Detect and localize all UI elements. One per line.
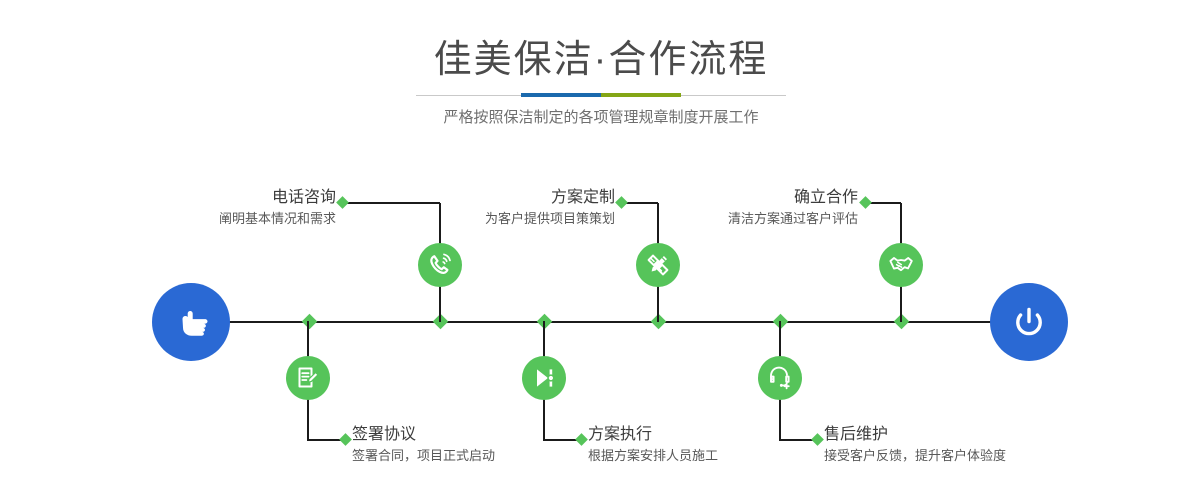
step-5-subtitle: 清洁方案通过客户评估 xyxy=(620,209,858,229)
step-3-title: 方案定制 xyxy=(380,187,615,209)
headset-add-icon xyxy=(766,364,794,392)
power-icon xyxy=(1007,300,1051,344)
page-title: 佳美保洁·合作流程 xyxy=(0,36,1202,84)
process-flow-infographic: 佳美保洁·合作流程 严格按照保洁制定的各项管理规章制度开展工作 xyxy=(0,0,1202,502)
step-5-title: 确立合作 xyxy=(620,187,858,209)
step-5-label: 确立合作 清洁方案通过客户评估 xyxy=(620,187,858,229)
step-1-label: 电话咨询 阐明基本情况和需求 xyxy=(100,187,336,229)
step-6-subtitle: 接受客户反馈，提升客户体验度 xyxy=(824,446,1154,466)
step-5-icon-node[interactable] xyxy=(879,243,923,287)
page-subtitle: 严格按照保洁制定的各项管理规章制度开展工作 xyxy=(0,106,1202,130)
handshake-icon xyxy=(887,251,915,279)
pencil-ruler-icon xyxy=(644,251,672,279)
step-3-icon-node[interactable] xyxy=(636,243,680,287)
step-2-icon-node[interactable] xyxy=(286,356,330,400)
step-6-title: 售后维护 xyxy=(824,424,1154,446)
pointing-hand-icon xyxy=(169,300,213,344)
step-3-subtitle: 为客户提供项目策策划 xyxy=(380,209,615,229)
title-divider-blue-segment xyxy=(521,93,601,97)
document-pen-icon xyxy=(294,364,322,392)
title-divider-green-segment xyxy=(601,93,681,97)
timeline-start-node[interactable] xyxy=(152,283,230,361)
step-1-icon-node[interactable] xyxy=(418,243,462,287)
step-3-label: 方案定制 为客户提供项目策策划 xyxy=(380,187,615,229)
phone-call-icon xyxy=(426,251,454,279)
timeline-end-node[interactable] xyxy=(990,283,1068,361)
step-6-label: 售后维护 接受客户反馈，提升客户体验度 xyxy=(824,424,1154,466)
play-skip-icon xyxy=(530,364,558,392)
step-6-icon-node[interactable] xyxy=(758,356,802,400)
step-1-title: 电话咨询 xyxy=(100,187,336,209)
step-4-icon-node[interactable] xyxy=(522,356,566,400)
axis-marker xyxy=(302,314,318,330)
step-1-subtitle: 阐明基本情况和需求 xyxy=(100,209,336,229)
